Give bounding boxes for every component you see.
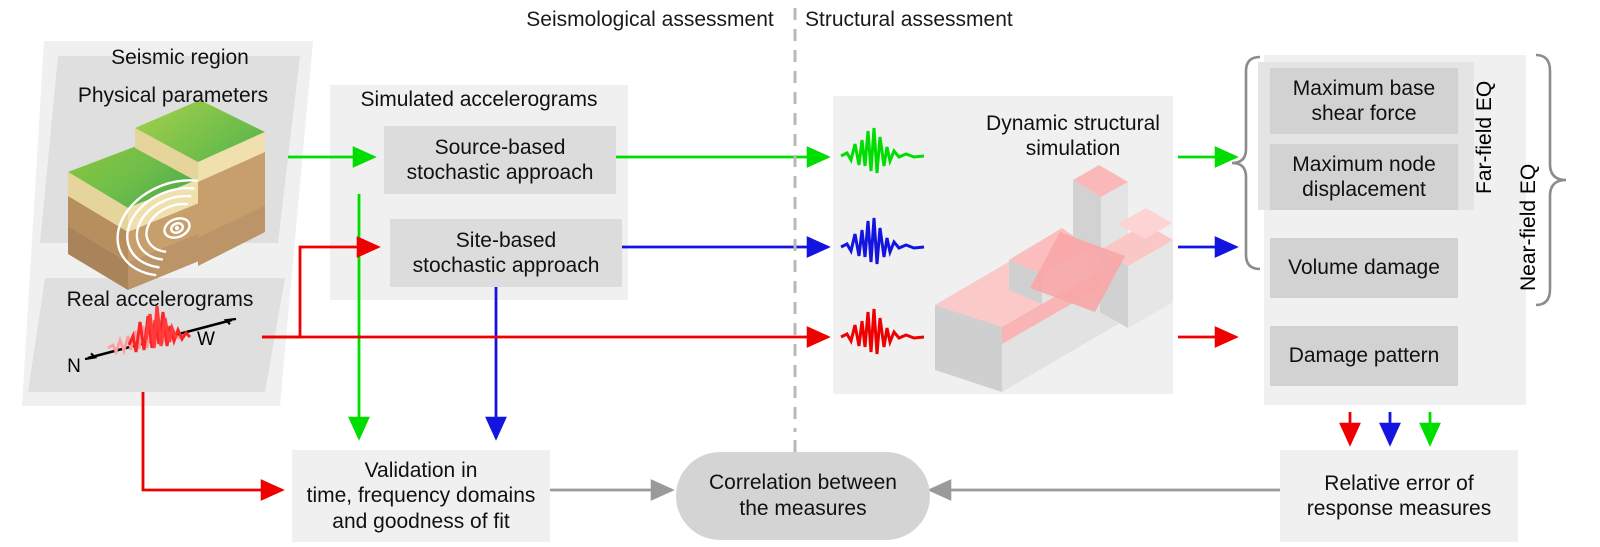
- site-based-stochastic-approach-box[interactable]: Site-based stochastic approach: [390, 219, 622, 287]
- near-field-eq-label: Near-field EQ: [1435, 215, 1600, 240]
- max-node-displacement-box[interactable]: Maximum node displacement: [1270, 144, 1458, 210]
- source-based-stochastic-approach-box[interactable]: Source-based stochastic approach: [384, 126, 616, 194]
- axis-label-west: W: [192, 329, 220, 351]
- physical-parameters-label: Physical parameters: [48, 84, 298, 109]
- volume-damage-box[interactable]: Volume damage: [1270, 238, 1458, 298]
- near-field-eq-text: Near-field EQ: [1518, 164, 1543, 291]
- dynamic-structural-simulation-caption: Dynamic structural simulation: [938, 112, 1208, 162]
- seismic-region-caption: Seismic region: [55, 46, 305, 71]
- far-field-eq-label: Far-field EQ: [1406, 125, 1566, 150]
- relative-error-box[interactable]: Relative error of response measures: [1280, 450, 1518, 542]
- header-structural-assessment: Structural assessment: [805, 8, 1085, 33]
- diagram-canvas: Seismological assessment Structural asse…: [0, 0, 1600, 547]
- simulated-accelerograms-caption: Simulated accelerograms: [343, 88, 615, 113]
- axis-label-north: N: [62, 356, 86, 378]
- validation-box[interactable]: Validation in time, frequency domains an…: [292, 450, 550, 542]
- header-seismological-assessment: Seismological assessment: [510, 8, 790, 33]
- damage-pattern-box[interactable]: Damage pattern: [1270, 326, 1458, 386]
- far-field-eq-text: Far-field EQ: [1474, 81, 1499, 194]
- left-brace-icon: [1232, 57, 1260, 269]
- real-accelerograms-label: Real accelerograms: [35, 288, 285, 313]
- correlation-box[interactable]: Correlation between the measures: [676, 452, 930, 540]
